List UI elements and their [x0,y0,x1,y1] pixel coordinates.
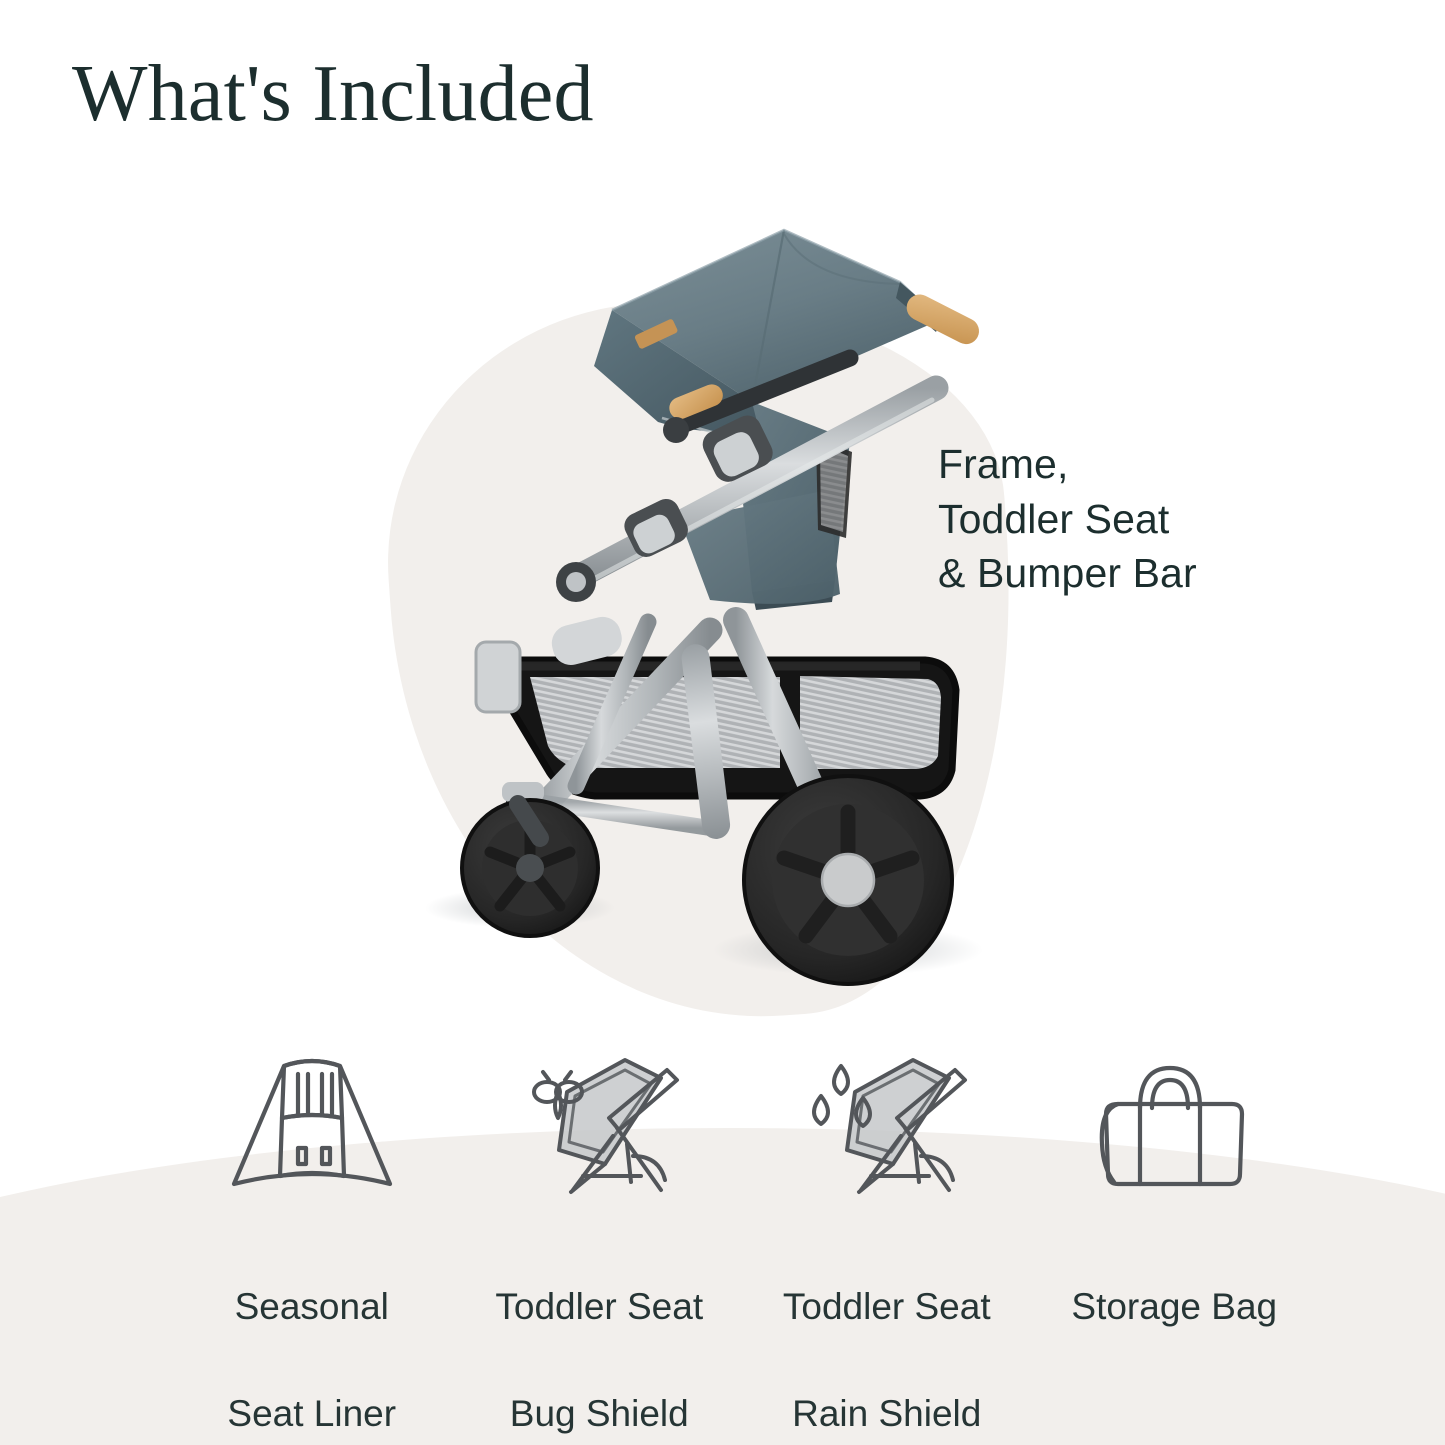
hero-callout-label: Frame, Toddler Seat & Bumper Bar [938,437,1197,601]
included-item-caption: Seasonal Seat Liner [227,1226,396,1445]
page-title: What's Included [72,54,594,134]
stroller-product-image [380,190,1020,990]
rear-wheel [744,776,952,984]
included-items-row: Seasonal Seat Liner [168,1052,1318,1445]
canopy-handle-leather [902,290,983,349]
caption-line-1: Toddler Seat [495,1280,703,1334]
callout-line-2: Toddler Seat [938,492,1197,547]
whats-included-infographic: What's Included [0,0,1445,1445]
caption-line-2: Rain Shield [783,1387,991,1441]
caption-line-2: Seat Liner [227,1387,396,1441]
included-item: Storage Bag [1031,1052,1319,1445]
caption-line-2: Bug Shield [495,1387,703,1441]
included-item-caption: Storage Bag [1071,1226,1277,1441]
rain-shield-icon [797,1052,977,1200]
caption-line-1: Seasonal [227,1280,396,1334]
caption-line-1: Toddler Seat [783,1280,991,1334]
bug-shield-icon [509,1052,689,1200]
footrest [476,642,520,712]
included-item: Toddler Seat Rain Shield [743,1052,1031,1445]
included-item: Toddler Seat Bug Shield [456,1052,744,1445]
included-item-caption: Toddler Seat Rain Shield [783,1226,991,1445]
included-item: Seasonal Seat Liner [168,1052,456,1445]
included-item-caption: Toddler Seat Bug Shield [495,1226,703,1445]
callout-line-3: & Bumper Bar [938,546,1197,601]
seat-liner-icon [222,1052,402,1200]
caption-line-1: Storage Bag [1071,1280,1277,1334]
storage-bag-icon [1084,1052,1264,1200]
callout-line-1: Frame, [938,437,1197,492]
